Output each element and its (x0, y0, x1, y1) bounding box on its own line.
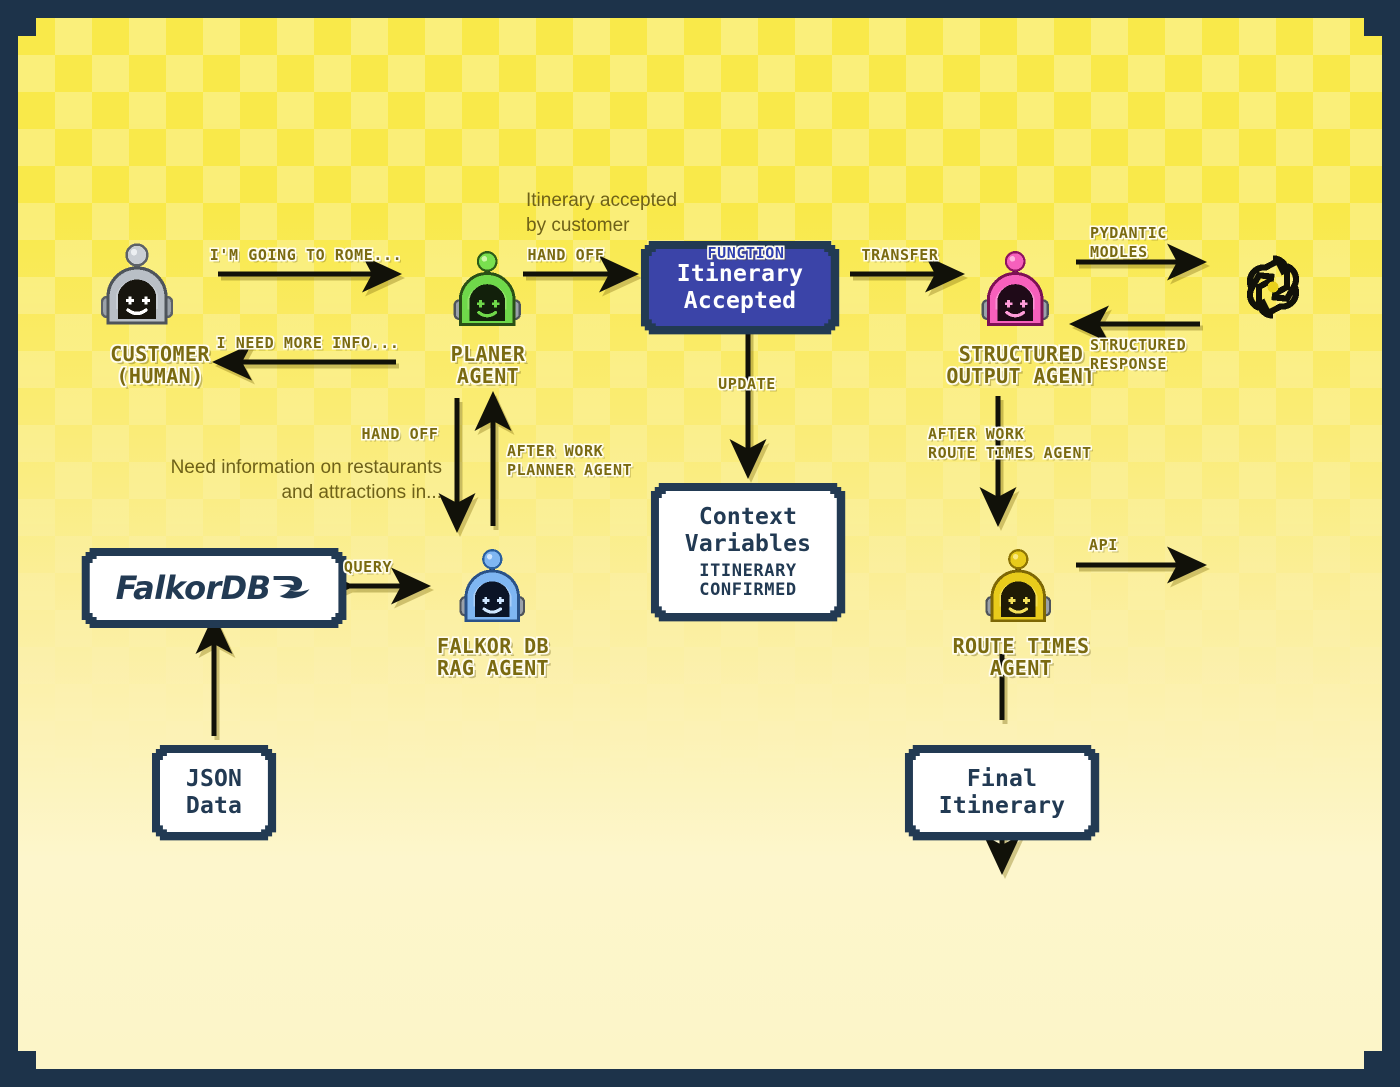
diagram-frame: CUSTOMER (HUMAN) (18, 18, 1382, 1069)
falkordb-logo-box[interactable]: FalkorDB (82, 548, 347, 628)
edge-label-update: UPDATE (718, 375, 776, 394)
agent-caption-falkor-rag: FALKOR DB RAG AGENT (437, 635, 549, 680)
final-itinerary-box[interactable]: Final Itinerary (905, 745, 1099, 840)
edge-label-need-more-info: I NEED MORE INFO... (217, 334, 400, 353)
agent-icon-structured-output[interactable] (979, 250, 1057, 340)
annotation-need-information: Need information on restaurants and attr… (171, 455, 442, 506)
edge-label-pydantic-models: PYDANTIC MODLES (1090, 224, 1167, 262)
edge-label-transfer: TRANSFER (861, 246, 938, 265)
edge-label-api: API (1089, 536, 1118, 555)
edge-label-after-work-route: AFTER WORK ROUTE TIMES AGENT (928, 425, 1092, 463)
diagram-canvas: CUSTOMER (HUMAN) (0, 0, 1400, 1087)
edge-label-after-work-planner: AFTER WORK PLANNER AGENT (507, 442, 632, 480)
agent-icon-route-times[interactable] (983, 548, 1059, 636)
annotation-itinerary-accepted-by-customer: Itinerary accepted by customer (526, 188, 677, 239)
agent-caption-planner: PLANER AGENT (451, 343, 526, 388)
edge-label-hand-off-planner: HAND OFF (527, 246, 604, 265)
edge-label-function: FUNCTION (707, 244, 784, 263)
agent-caption-structured-output: STRUCTURED OUTPUT AGENT (946, 343, 1095, 388)
edge-label-structured-response: STRUCTURED RESPONSE (1090, 336, 1186, 374)
json-data-title: JSON Data (186, 766, 242, 819)
context-variables-subtitle: ITINERARY CONFIRMED (685, 562, 811, 600)
falkordb-wordmark: FalkorDB (116, 569, 271, 607)
function-box-title: Itinerary Accepted (677, 261, 803, 314)
edge-label-going-to-rome: I'M GOING TO ROME... (210, 246, 403, 265)
context-variables-box[interactable]: Context Variables ITINERARY CONFIRMED (651, 483, 845, 621)
diagram-content: CUSTOMER (HUMAN) (18, 18, 1382, 1069)
falkordb-bird-icon (270, 573, 312, 607)
agent-icon-customer[interactable] (98, 243, 182, 339)
agent-caption-route-times: ROUTE TIMES AGENT (953, 635, 1090, 680)
agent-icon-falkor-rag[interactable] (457, 548, 533, 636)
agent-icon-planner[interactable] (451, 250, 529, 340)
context-variables-title: Context Variables (685, 504, 811, 557)
final-itinerary-title: Final Itinerary (939, 766, 1065, 819)
edge-label-query: QUERY (344, 558, 392, 577)
agent-caption-customer: CUSTOMER (HUMAN) (110, 343, 210, 388)
json-data-box[interactable]: JSON Data (152, 745, 276, 840)
edge-label-hand-off-rag: HAND OFF (361, 425, 438, 444)
openai-logo-icon (1234, 248, 1312, 330)
